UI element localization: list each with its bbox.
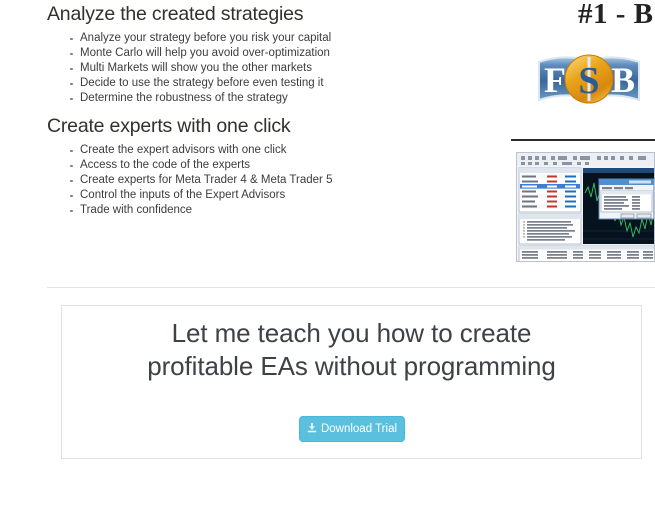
list-item: Analyze your strategy before you risk yo… bbox=[47, 31, 331, 46]
section-heading-create-experts: Create experts with one click bbox=[47, 114, 290, 138]
download-trial-button[interactable]: Download Trial bbox=[299, 416, 405, 442]
section-divider bbox=[47, 287, 655, 288]
list-item: Monte Carlo will help you avoid over-opt… bbox=[47, 46, 331, 61]
cta-title-line2: profitable EAs without programming bbox=[62, 350, 641, 383]
section-heading-analyze: Analyze the created strategies bbox=[47, 2, 303, 26]
list-item: Create experts for Meta Trader 4 & Meta … bbox=[47, 173, 332, 188]
list-item: Trade with confidence bbox=[47, 203, 332, 218]
list-item: Determine the robustness of the strategy bbox=[47, 91, 331, 106]
page-root: Analyze the created strategies Analyze y… bbox=[0, 0, 655, 520]
svg-text:F: F bbox=[544, 60, 566, 100]
list-item: Control the inputs of the Expert Advisor… bbox=[47, 188, 332, 203]
right-headline: #1 - B bbox=[578, 0, 654, 31]
svg-text:S: S bbox=[578, 60, 599, 102]
cta-title-line1: Let me teach you how to create bbox=[172, 318, 532, 348]
bullet-list-create-experts: Create the expert advisors with one clic… bbox=[47, 143, 332, 218]
screenshot-divider bbox=[511, 139, 655, 141]
list-item: Access to the code of the experts bbox=[47, 158, 332, 173]
cta-title: Let me teach you how to create profitabl… bbox=[62, 317, 641, 383]
app-screenshot-thumbnail bbox=[516, 152, 655, 262]
list-item: Decide to use the strategy before even t… bbox=[47, 76, 331, 91]
download-icon bbox=[307, 418, 317, 442]
bullet-list-analyze: Analyze your strategy before you risk yo… bbox=[47, 31, 331, 106]
list-item: Multi Markets will show you the other ma… bbox=[47, 61, 331, 76]
download-trial-label: Download Trial bbox=[321, 423, 397, 435]
fsb-logo: F B S bbox=[533, 48, 645, 110]
svg-text:B: B bbox=[611, 60, 635, 100]
list-item: Create the expert advisors with one clic… bbox=[47, 143, 332, 158]
